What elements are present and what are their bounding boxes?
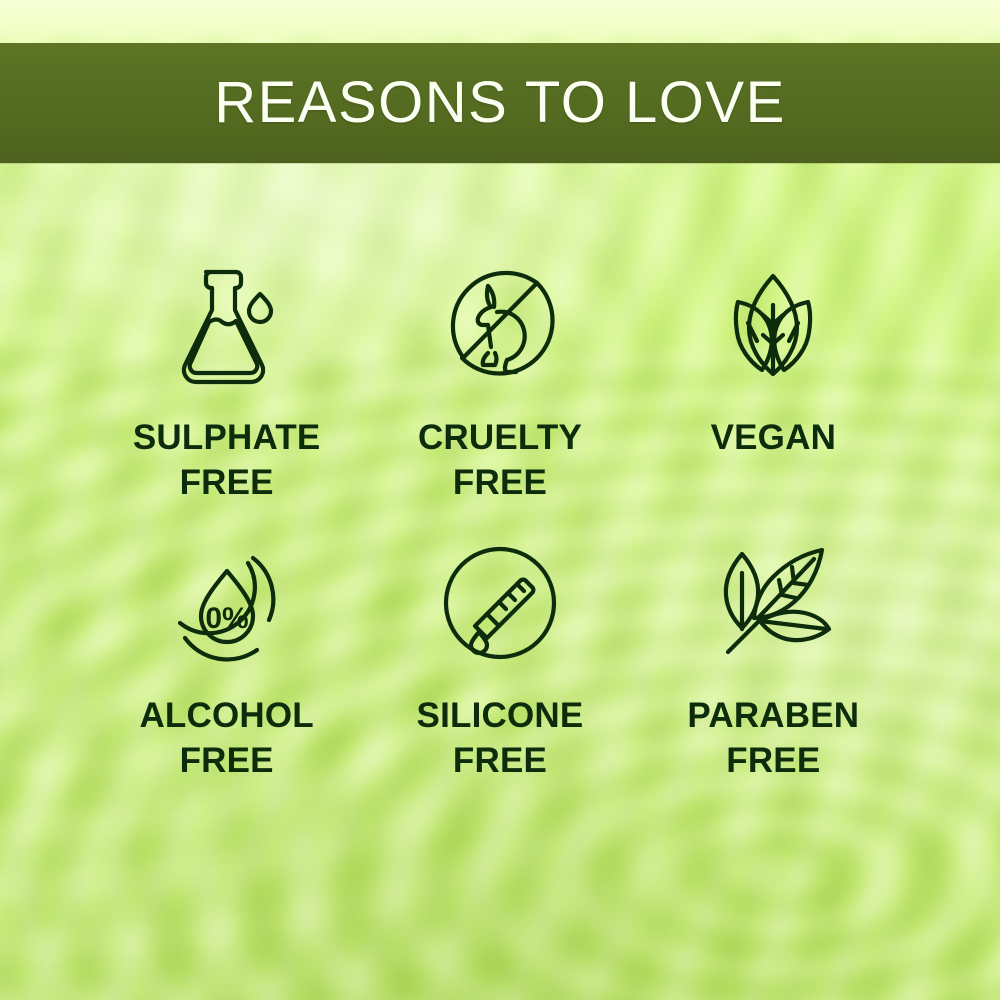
dropper-pipette-icon — [420, 528, 580, 678]
badge-cruelty-free: CRUELTY FREE — [363, 250, 636, 510]
badge-label: SULPHATE FREE — [133, 416, 321, 506]
badge-silicone-free: SILICONE FREE — [363, 528, 636, 788]
page-title: REASONS TO LOVE — [214, 74, 786, 132]
header-banner: REASONS TO LOVE — [0, 43, 1000, 163]
badge-alcohol-free: 0% ALCOHOL FREE — [90, 528, 363, 788]
badge-grid: SULPHATE FREE — [90, 250, 910, 788]
three-leaves-vegan-icon — [693, 250, 853, 400]
reasons-to-love-poster: REASONS TO LOVE SULPHATE FREE — [0, 0, 1000, 1000]
badge-label: ALCOHOL FREE — [139, 694, 313, 784]
zero-percent-label: 0% — [205, 602, 248, 635]
badge-label: CRUELTY FREE — [418, 416, 582, 506]
badge-sulphate-free: SULPHATE FREE — [90, 250, 363, 510]
no-animal-testing-rabbit-icon — [420, 250, 580, 400]
badge-label: VEGAN — [711, 416, 836, 461]
badge-paraben-free: PARABEN FREE — [637, 528, 910, 788]
badge-label: PARABEN FREE — [687, 694, 859, 784]
leaf-sprig-branch-icon — [693, 528, 853, 678]
badge-vegan: VEGAN — [637, 250, 910, 510]
badge-label: SILICONE FREE — [417, 694, 584, 784]
flask-droplet-icon — [147, 250, 307, 400]
zero-percent-water-drop-icon: 0% — [147, 528, 307, 678]
